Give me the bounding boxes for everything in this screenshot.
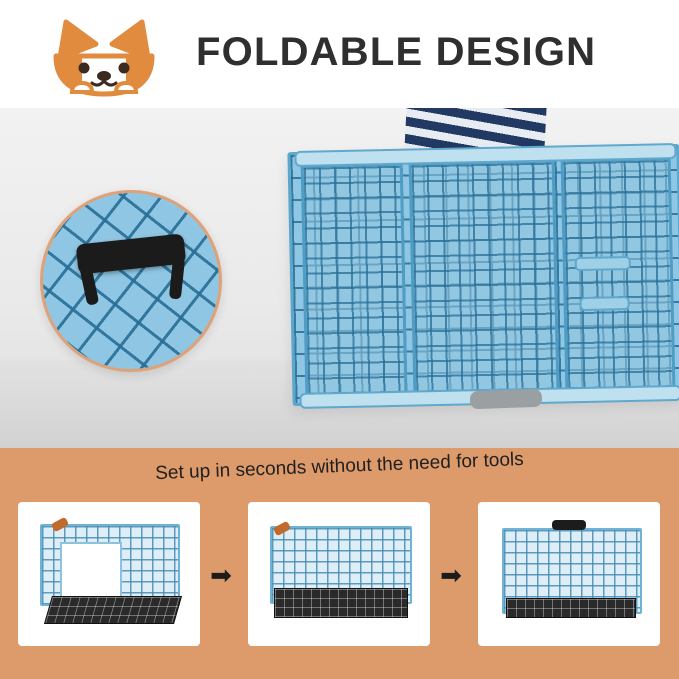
crate-latch-upper [575,256,631,271]
crate-panel-right-mesh [564,160,673,390]
step1-tray-mesh [45,597,180,623]
step2-tray [274,588,408,618]
setup-tagline: Set up in seconds without the need for t… [0,443,679,491]
step2-tray-mesh [275,589,407,617]
product-infographic-poster: FOLDABLE DESIGN [0,0,679,679]
step-card-1 [18,502,200,646]
assembly-steps-strip: ➡ ➡ [0,502,679,646]
header-bar: FOLDABLE DESIGN [0,0,679,108]
step3-tray-mesh [507,599,635,617]
folded-crate [287,144,679,406]
step-arrow-1: ➡ [204,562,238,588]
step3-top-handle [552,520,586,530]
crate-panel-center [409,160,560,397]
crate-latch-lower [579,296,629,311]
step-arrow-2: ➡ [434,562,468,588]
crate-floor-pan-edge [470,389,543,410]
hero-photo-panel: Handle design for easy carrying [0,108,679,448]
corgi-dog-logo [42,18,166,104]
corgi-dog-logo-icon [42,18,166,104]
handle-closeup-circle [40,190,222,372]
step-card-2 [248,502,430,646]
bottom-color-band [0,646,679,679]
crate-panel-left-mesh [304,166,405,396]
crate-panel-right [561,157,676,393]
step3-tray [506,598,636,618]
crate-panel-center-mesh [412,163,557,394]
page-title: FOLDABLE DESIGN [196,30,596,75]
handle-closeup-mesh [40,190,222,372]
step-card-3 [478,502,660,646]
step1-tray [44,596,182,624]
crate-panel-left [301,163,408,399]
